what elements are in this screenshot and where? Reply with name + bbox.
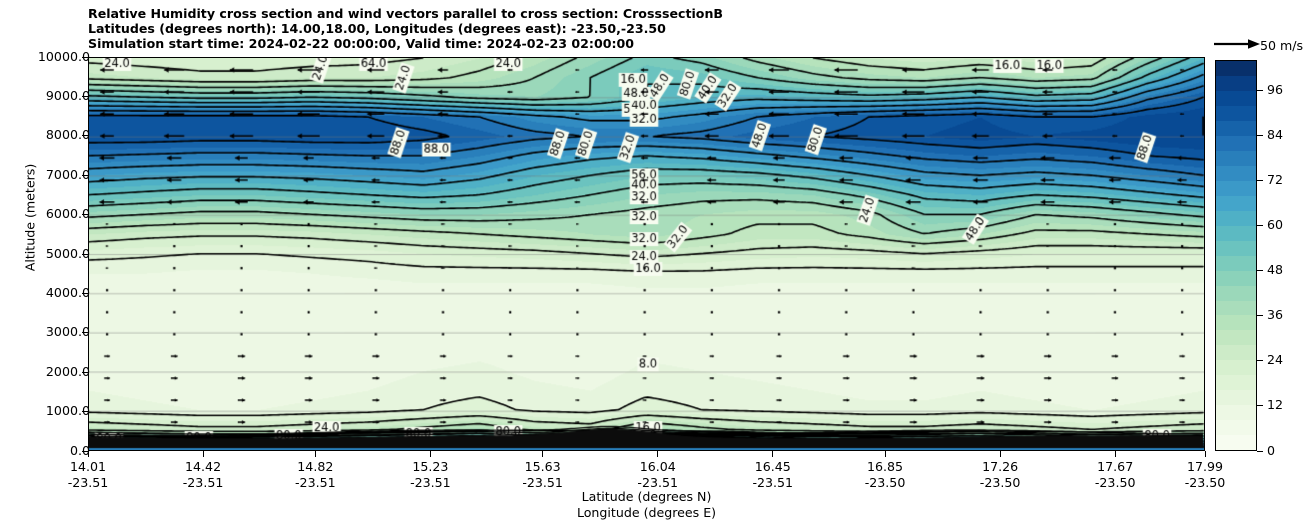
title-line-2: Latitudes (degrees north): 14.00,18.00, …: [88, 21, 1198, 36]
colorbar-band: [1216, 211, 1256, 226]
x-tick-longitude: -23.50: [865, 475, 906, 490]
y-tick-label: 5000.0: [46, 248, 90, 261]
colorbar-band: [1216, 301, 1256, 316]
colorbar-tick-label: 0: [1267, 445, 1275, 458]
colorbar-tick-mark: [1257, 360, 1263, 361]
x-tick-latitude: 14.82: [297, 459, 333, 474]
x-tick-mark: [885, 451, 886, 457]
colorbar-band: [1216, 241, 1256, 256]
colorbar-tick-label: 84: [1267, 129, 1283, 142]
x-tick-label: 14.42-23.51: [143, 459, 263, 490]
y-tick-label: 8000.0: [46, 129, 90, 142]
colorbar-tick-label: 72: [1267, 174, 1283, 187]
x-tick-label: 16.04-23.51: [598, 459, 718, 490]
colorbar-band: [1216, 61, 1256, 76]
y-tick-label: 3000.0: [46, 326, 90, 339]
humidity-cross-section-canvas: [89, 58, 1204, 450]
x-tick-mark: [772, 451, 773, 457]
x-tick-longitude: -23.51: [295, 475, 336, 490]
colorbar-tick-mark: [1257, 225, 1263, 226]
colorbar-band: [1216, 345, 1256, 360]
x-tick-latitude: 15.63: [525, 459, 561, 474]
colorbar-tick-mark: [1257, 405, 1263, 406]
colorbar-band: [1216, 390, 1256, 405]
y-tick-label: 1000.0: [46, 405, 90, 418]
colorbar-band: [1216, 271, 1256, 286]
colorbar-gradient: [1216, 61, 1256, 450]
colorbar-tick-mark: [1257, 135, 1263, 136]
colorbar-band: [1216, 166, 1256, 181]
x-tick-label: 16.45-23.51: [713, 459, 833, 490]
x-tick-label: 17.26-23.50: [940, 459, 1060, 490]
colorbar-tick-mark: [1257, 315, 1263, 316]
colorbar-band: [1216, 91, 1256, 106]
x-tick-mark: [430, 451, 431, 457]
colorbar-tick-mark: [1257, 180, 1263, 181]
x-tick-label: 14.01-23.51: [28, 459, 148, 490]
colorbar-band: [1216, 76, 1256, 91]
x-axis-label-longitude: Longitude (degrees E): [88, 505, 1205, 520]
y-tick-label: 2000.0: [46, 366, 90, 379]
x-tick-latitude: 17.26: [982, 459, 1018, 474]
right-arrow-icon: [1212, 35, 1262, 57]
colorbar-tick-mark: [1257, 90, 1263, 91]
colorbar-band: [1216, 420, 1256, 435]
colorbar-band: [1216, 435, 1256, 450]
x-tick-longitude: -23.50: [1095, 475, 1136, 490]
chart-title: Relative Humidity cross section and wind…: [88, 6, 1198, 52]
colorbar-band: [1216, 106, 1256, 121]
x-tick-latitude: 17.67: [1097, 459, 1133, 474]
x-tick-latitude: 14.42: [185, 459, 221, 474]
figure-canvas: Relative Humidity cross section and wind…: [0, 0, 1304, 526]
colorbar-band: [1216, 360, 1256, 375]
title-line-3: Simulation start time: 2024-02-22 00:00:…: [88, 36, 1198, 51]
y-tick-label: 6000.0: [46, 208, 90, 221]
colorbar-band: [1216, 256, 1256, 271]
x-tick-longitude: -23.51: [522, 475, 563, 490]
title-line-1: Relative Humidity cross section and wind…: [88, 6, 1198, 21]
x-tick-label: 14.82-23.51: [255, 459, 375, 490]
x-axis-label-latitude: Latitude (degrees N): [88, 489, 1205, 504]
y-tick-label: 10000.0: [38, 51, 90, 64]
x-tick-latitude: 16.85: [867, 459, 903, 474]
colorbar-band: [1216, 405, 1256, 420]
colorbar-band: [1216, 226, 1256, 241]
x-tick-longitude: -23.50: [1185, 475, 1226, 490]
colorbar-tick-label: 60: [1267, 219, 1283, 232]
x-tick-latitude: 15.23: [412, 459, 448, 474]
colorbar-tick-label: 96: [1267, 84, 1283, 97]
x-tick-longitude: -23.51: [68, 475, 109, 490]
x-tick-longitude: -23.51: [410, 475, 451, 490]
x-tick-mark: [542, 451, 543, 457]
x-tick-mark: [1205, 451, 1206, 457]
x-tick-mark: [1115, 451, 1116, 457]
colorbar-band: [1216, 330, 1256, 345]
x-tick-longitude: -23.51: [183, 475, 224, 490]
x-tick-longitude: -23.50: [980, 475, 1021, 490]
x-tick-label: 17.99-23.50: [1145, 459, 1265, 490]
y-tick-label: 7000.0: [46, 169, 90, 182]
plot-area: [88, 57, 1205, 451]
x-tick-latitude: 17.99: [1187, 459, 1223, 474]
colorbar-tick-label: 48: [1267, 264, 1283, 277]
x-tick-mark: [203, 451, 204, 457]
colorbar-band: [1216, 181, 1256, 196]
y-tick-label: 9000.0: [46, 90, 90, 103]
x-tick-latitude: 16.45: [755, 459, 791, 474]
colorbar-band: [1216, 136, 1256, 151]
x-tick-mark: [315, 451, 316, 457]
x-tick-longitude: -23.51: [752, 475, 793, 490]
colorbar-tick-mark: [1257, 270, 1263, 271]
colorbar-band: [1216, 315, 1256, 330]
colorbar-tick-label: 36: [1267, 309, 1283, 322]
colorbar-band: [1216, 375, 1256, 390]
colorbar-band: [1216, 121, 1256, 136]
x-tick-label: 15.63-23.51: [483, 459, 603, 490]
x-tick-label: 15.23-23.51: [370, 459, 490, 490]
x-tick-mark: [657, 451, 658, 457]
colorbar-band: [1216, 196, 1256, 211]
x-tick-latitude: 14.01: [70, 459, 106, 474]
y-axis-label: Altitude (meters): [23, 38, 38, 398]
colorbar-band: [1216, 286, 1256, 301]
quiver-key: 50 m/s: [1212, 35, 1304, 57]
x-tick-longitude: -23.51: [637, 475, 678, 490]
colorbar-band: [1216, 151, 1256, 166]
colorbar-tick-label: 24: [1267, 354, 1283, 367]
y-tick-label: 4000.0: [46, 287, 90, 300]
quiver-key-label: 50 m/s: [1260, 38, 1303, 53]
colorbar-tick-mark: [1257, 451, 1263, 452]
colorbar: [1215, 60, 1257, 451]
x-tick-mark: [88, 451, 89, 457]
x-tick-label: 16.85-23.50: [825, 459, 945, 490]
x-tick-latitude: 16.04: [640, 459, 676, 474]
x-tick-mark: [1000, 451, 1001, 457]
colorbar-tick-label: 12: [1267, 399, 1283, 412]
